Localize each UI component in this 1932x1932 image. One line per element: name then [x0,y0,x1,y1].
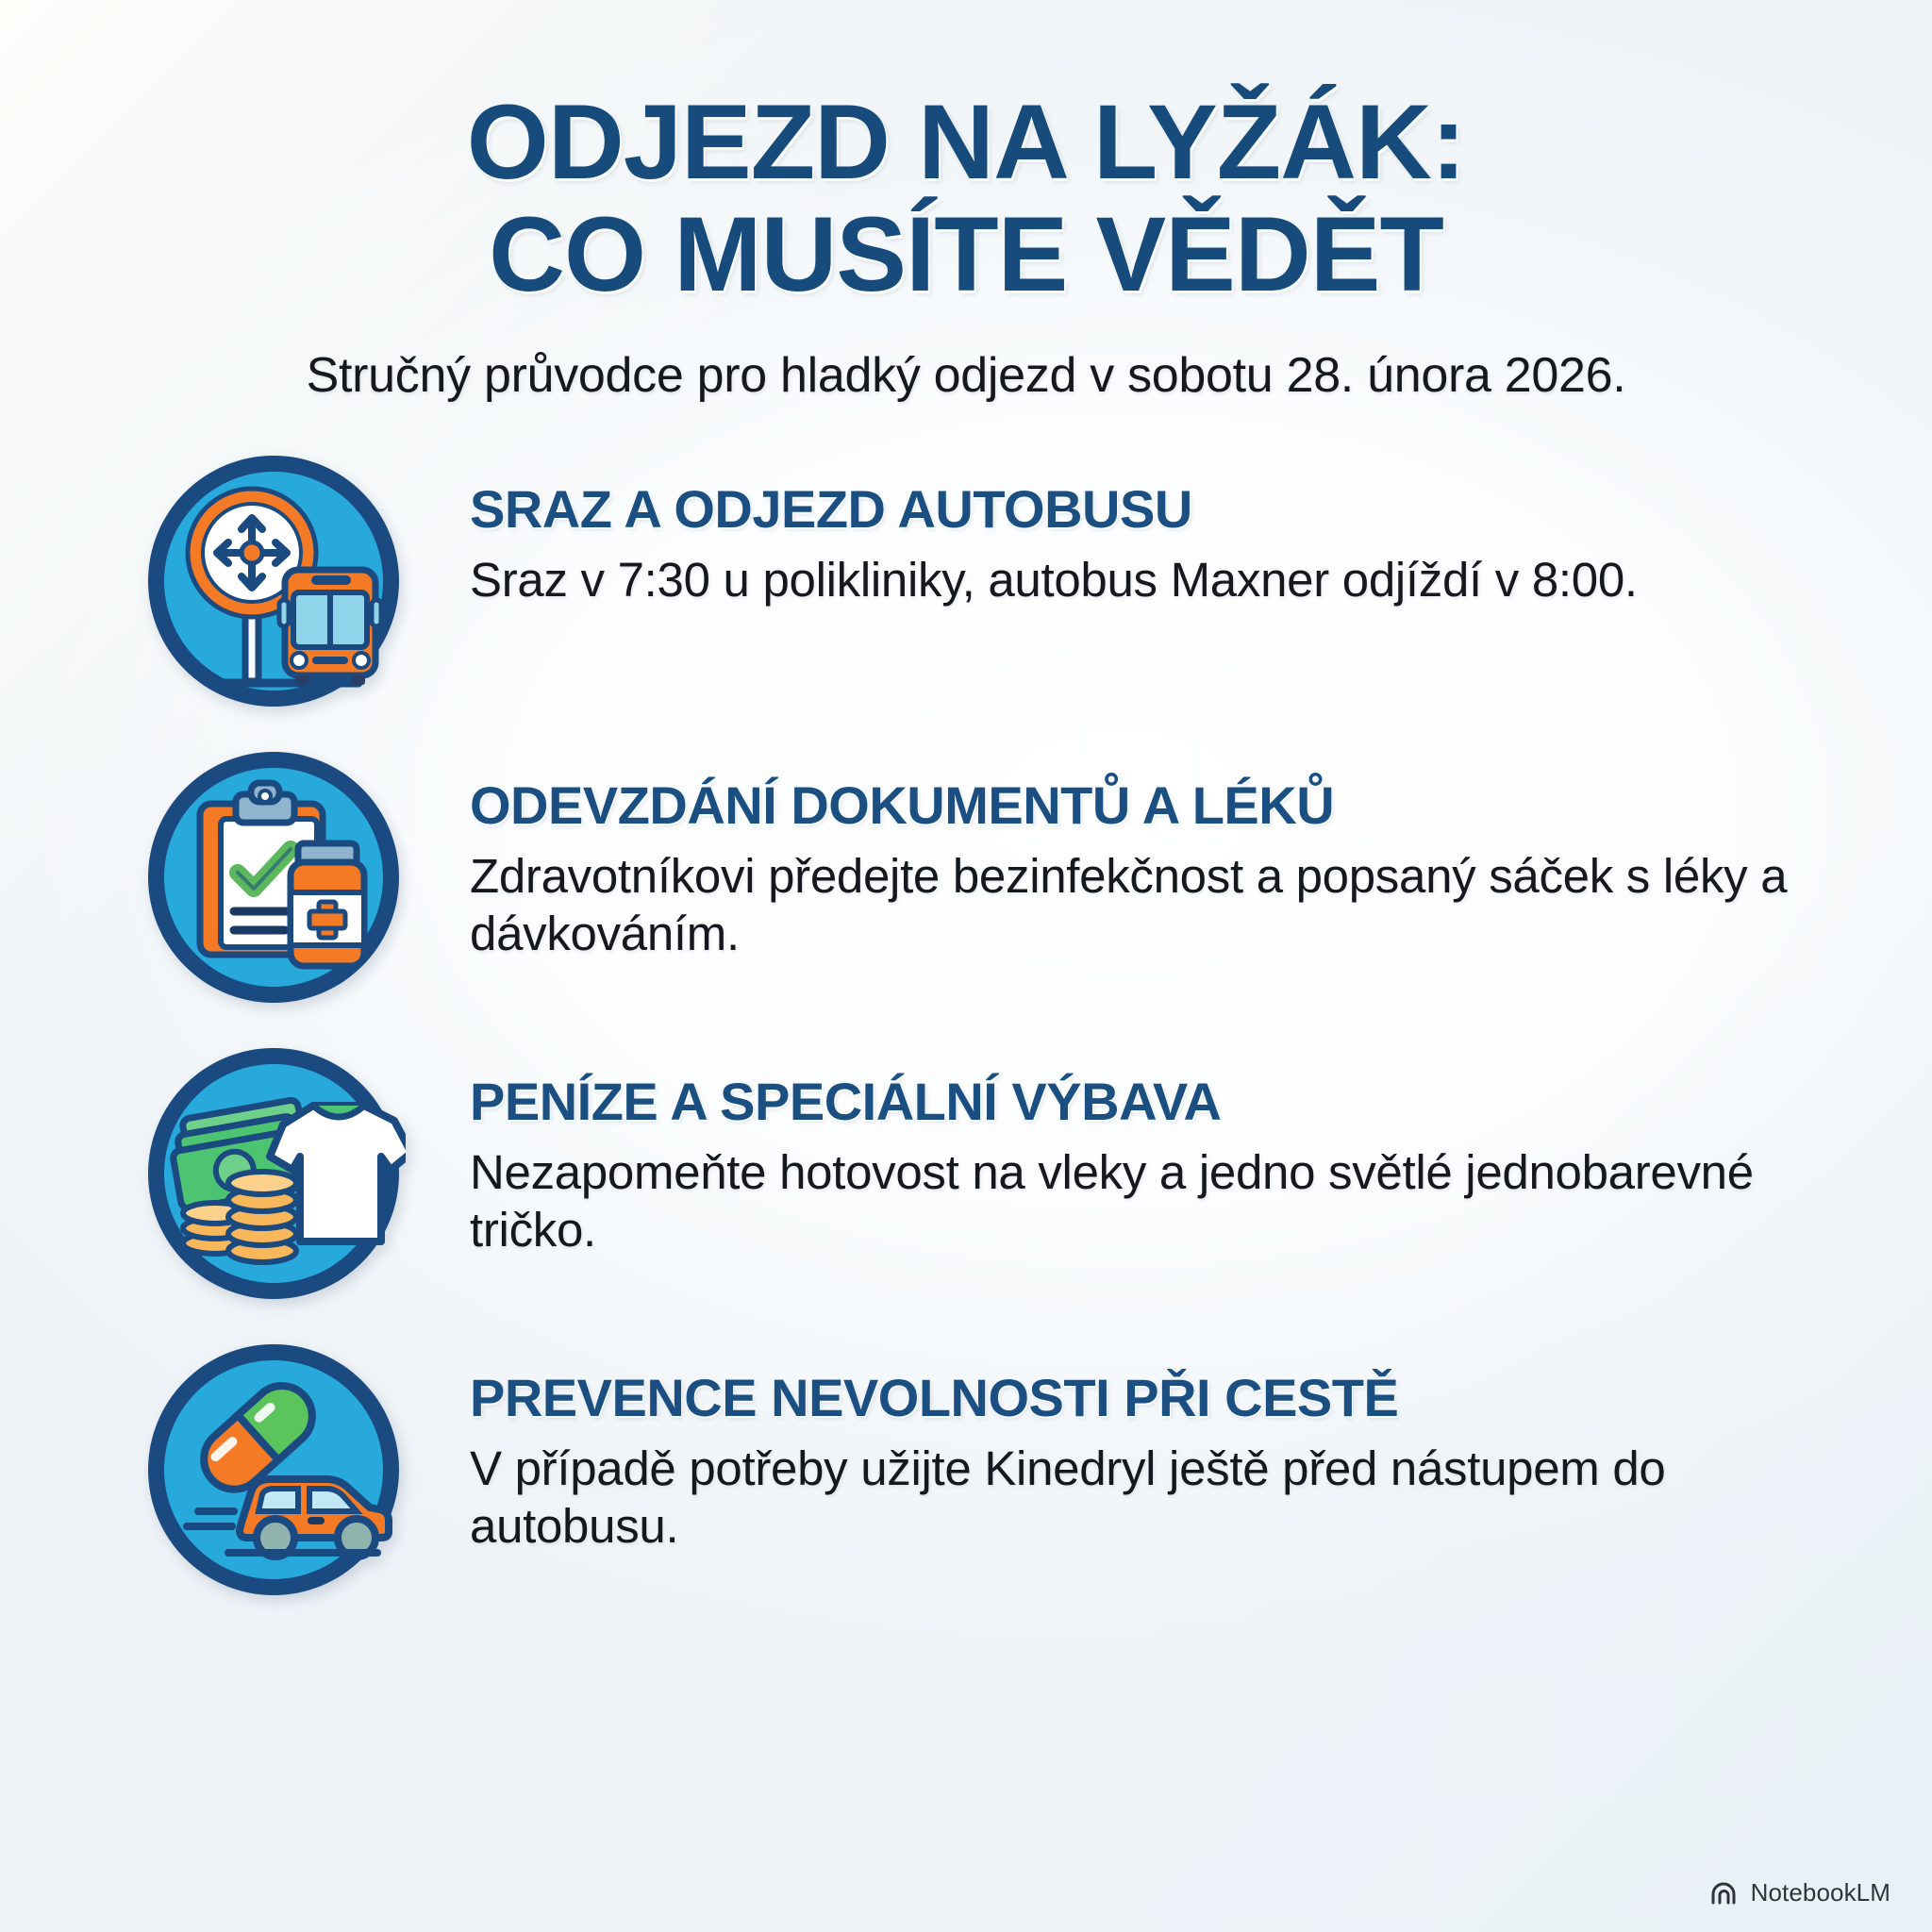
list-item: PENÍZE A SPECIÁLNÍ VÝBAVA Nezapomeňte ho… [142,1041,1866,1306]
list-item: SRAZ A ODJEZD AUTOBUSU Sraz v 7:30 u pol… [142,449,1866,713]
money-tshirt-icon [142,1041,406,1306]
list-item-heading: ODEVZDÁNÍ DOKUMENTŮ A LÉKŮ [470,777,1866,834]
tips-list: SRAZ A ODJEZD AUTOBUSU Sraz v 7:30 u pol… [0,449,1932,1602]
notebooklm-label: NotebookLM [1751,1878,1890,1907]
page-title-line-2: CO MUSÍTE VĚDĚT [0,199,1932,311]
list-item-body: Zdravotníkovi předejte bezinfekčnost a p… [470,847,1866,962]
list-item-body: Sraz v 7:30 u polikliniky, autobus Maxne… [470,551,1866,608]
list-item-heading: SRAZ A ODJEZD AUTOBUSU [470,481,1866,538]
list-item: ODEVZDÁNÍ DOKUMENTŮ A LÉKŮ Zdravotníkovi… [142,745,1866,1009]
page-title-line-1: ODJEZD NA LYŽÁK: [0,87,1932,199]
notebooklm-watermark: NotebookLM [1710,1878,1890,1907]
pill-car-icon [142,1338,406,1602]
list-item: PREVENCE NEVOLNOSTI PŘI CESTĚ V případě … [142,1338,1866,1602]
page-title: ODJEZD NA LYŽÁK: CO MUSÍTE VĚDĚT [0,87,1932,310]
poster-header: ODJEZD NA LYŽÁK: CO MUSÍTE VĚDĚT Stručný… [0,0,1932,406]
page-subtitle: Stručný průvodce pro hladký odjezd v sob… [0,346,1932,405]
list-item-text: SRAZ A ODJEZD AUTOBUSU Sraz v 7:30 u pol… [470,449,1866,609]
clipboard-medicine-icon [142,745,406,1009]
notebooklm-arc-icon [1710,1881,1739,1906]
infographic-poster: ODJEZD NA LYŽÁK: CO MUSÍTE VĚDĚT Stručný… [0,0,1932,1932]
list-item-heading: PENÍZE A SPECIÁLNÍ VÝBAVA [470,1074,1866,1130]
list-item-heading: PREVENCE NEVOLNOSTI PŘI CESTĚ [470,1370,1866,1426]
bus-stop-sign-icon [142,449,406,713]
list-item-text: PREVENCE NEVOLNOSTI PŘI CESTĚ V případě … [470,1338,1866,1556]
list-item-body: V případě potřeby užijte Kinedryl ještě … [470,1440,1866,1555]
list-item-body: Nezapomeňte hotovost na vleky a jedno sv… [470,1143,1866,1258]
list-item-text: ODEVZDÁNÍ DOKUMENTŮ A LÉKŮ Zdravotníkovi… [470,745,1866,963]
list-item-text: PENÍZE A SPECIÁLNÍ VÝBAVA Nezapomeňte ho… [470,1041,1866,1259]
